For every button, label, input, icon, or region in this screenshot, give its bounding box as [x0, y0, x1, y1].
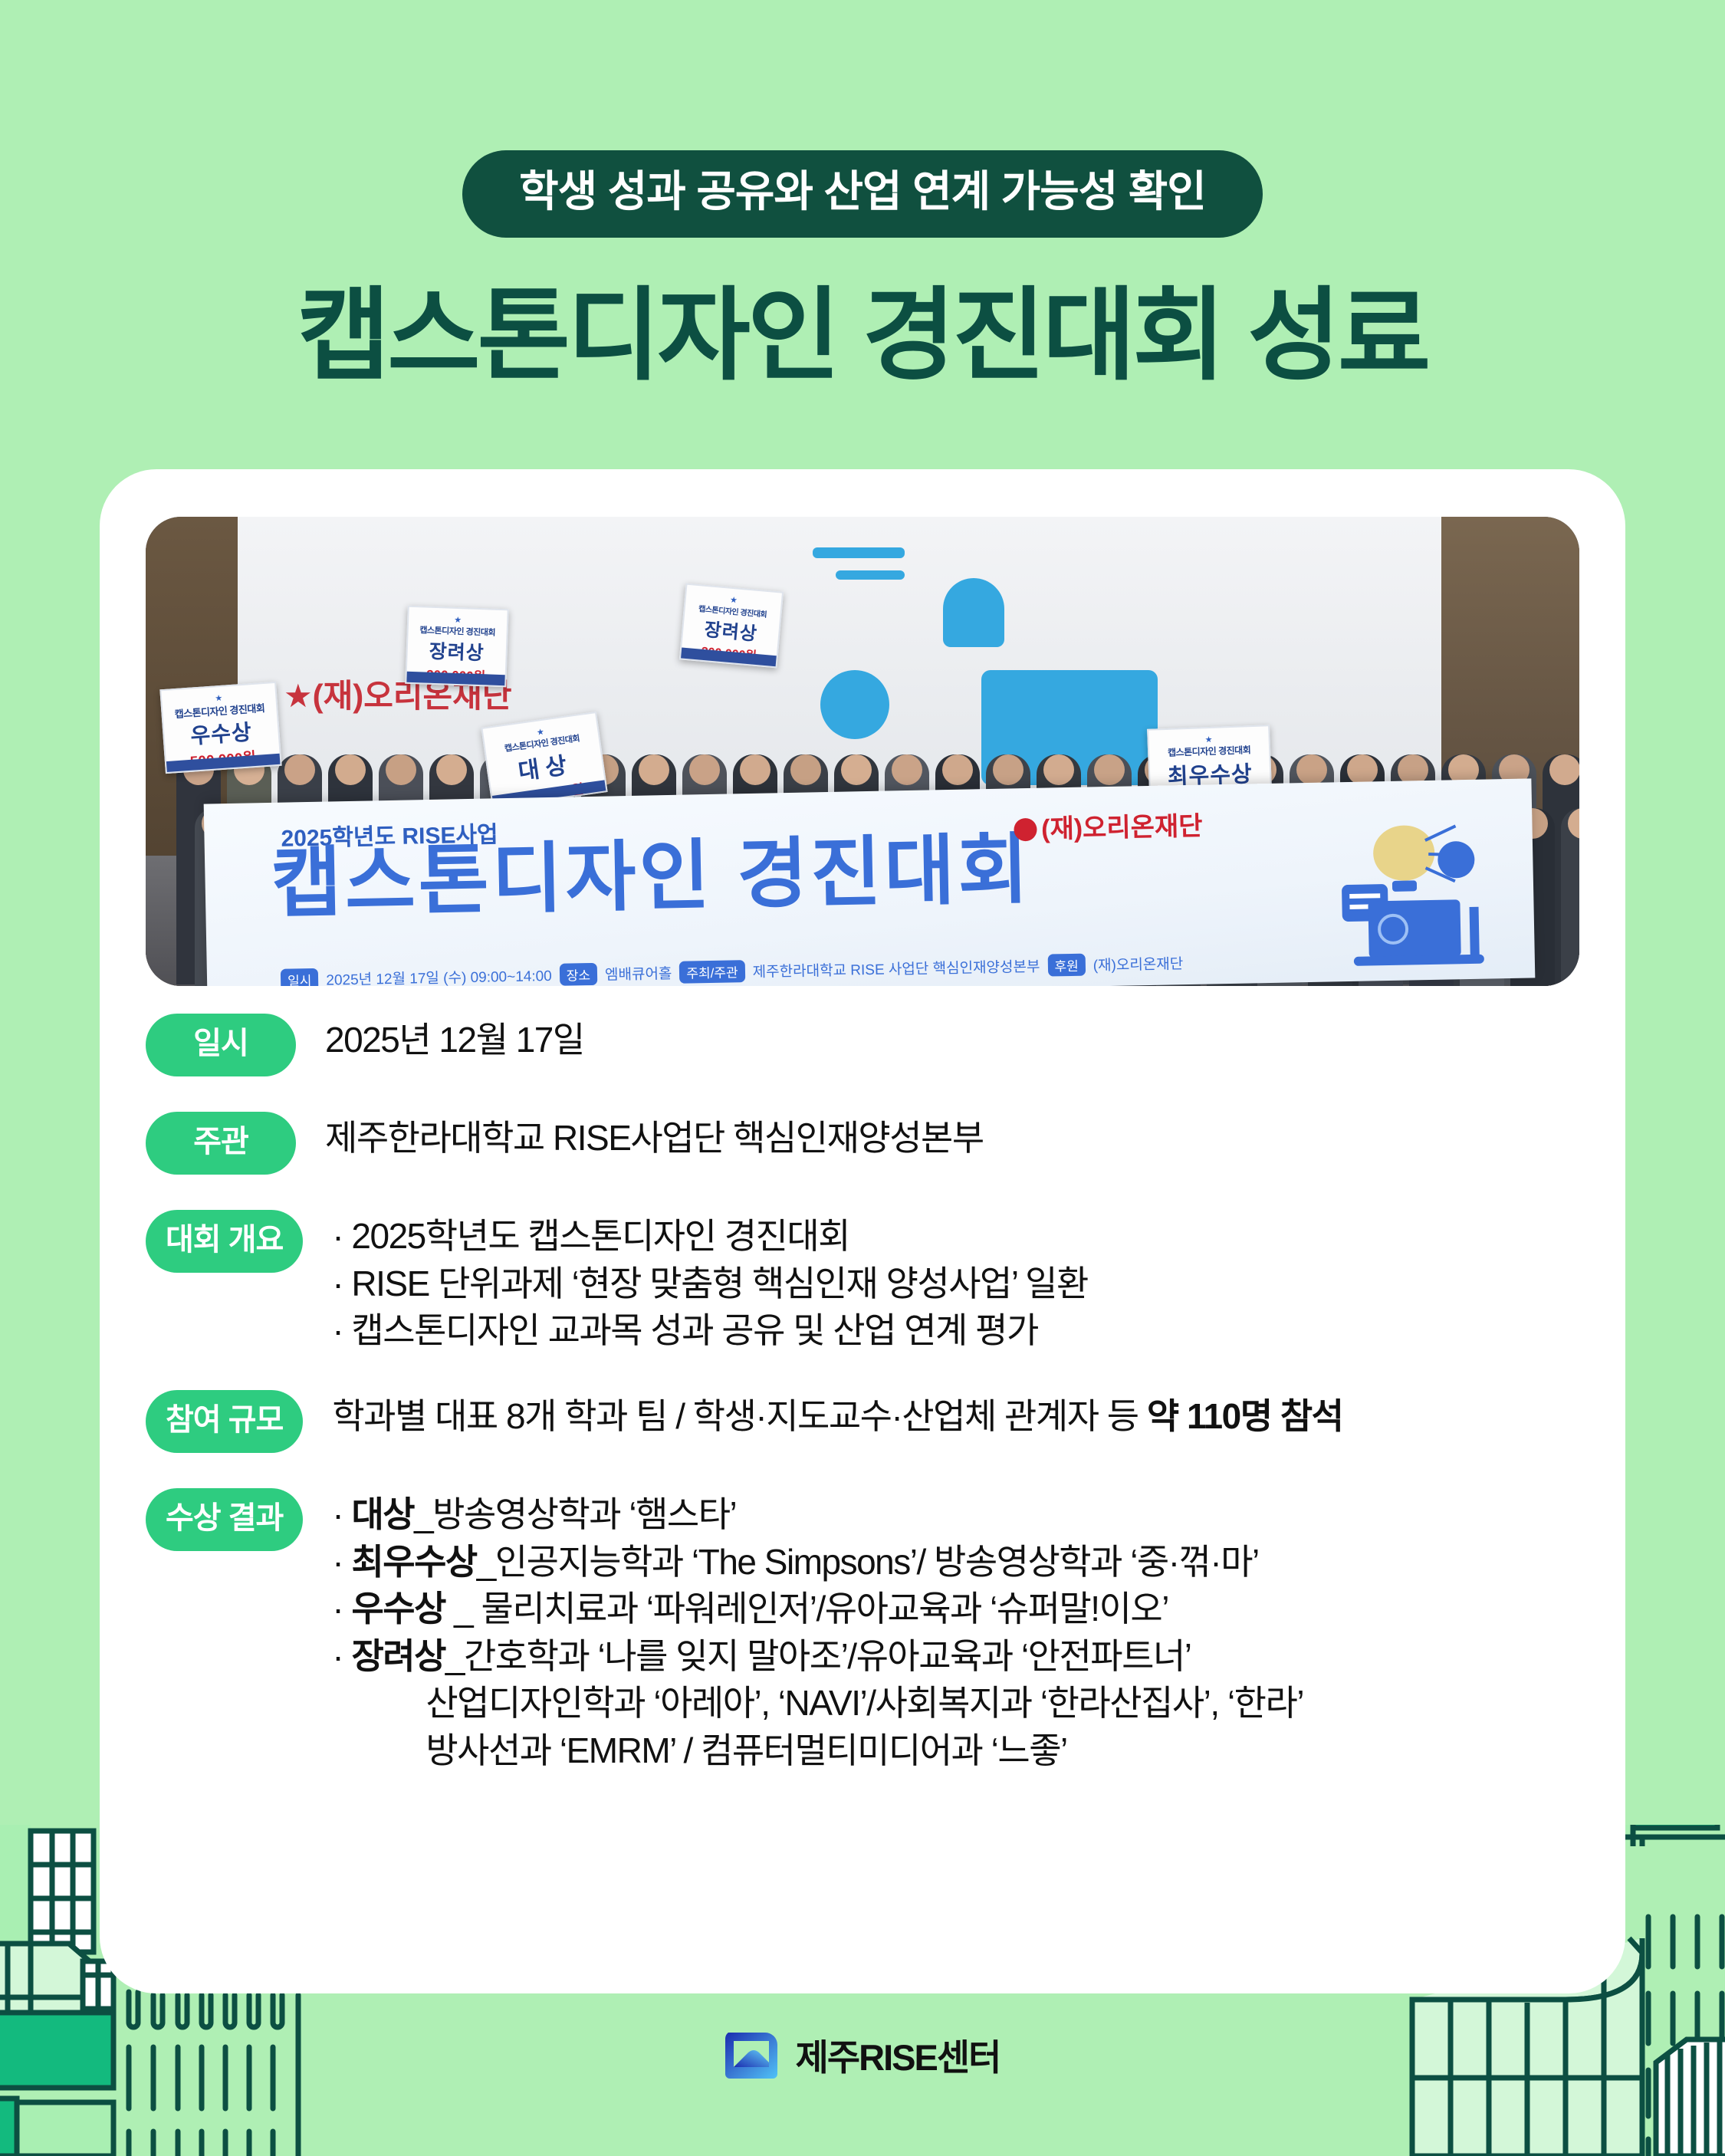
banner-sponsor-text: (재)오리온재단	[1041, 812, 1203, 844]
banner-sponsor-value: (재)오리온재단	[1092, 952, 1183, 974]
banner-place-value: 엠배큐어홀	[605, 962, 672, 984]
footer-logo-text: 제주RISE센터	[796, 2028, 1001, 2081]
info-body-overview: · 2025학년도 캡스톤디자인 경진대회 · RISE 단위과제 ‘현장 맞춤…	[332, 1210, 1579, 1355]
info-line: 2025년 12월 17일	[325, 1017, 1579, 1064]
screen-graphic-3	[943, 578, 1004, 647]
orion-logo-icon	[1014, 818, 1037, 842]
info-badge-participants: 참여 규모	[146, 1390, 303, 1453]
info-row-participants: 참여 규모 학과별 대표 8개 학과 팀 / 학생·지도교수·산업체 관계자 등…	[146, 1390, 1579, 1453]
info-line: · 최우수상_인공지능학과 ‘The Simpsons’/ 방송영상학과 ‘중·…	[332, 1539, 1579, 1586]
info-badge-awards: 수상 결과	[146, 1488, 303, 1551]
info-row-date: 일시 2025년 12월 17일	[146, 1014, 1579, 1076]
info-line: · RISE 단위과제 ‘현장 맞춤형 핵심인재 양성사업’ 일환	[332, 1260, 1579, 1308]
info-line: · 우수상 _ 물리치료과 ‘파워레인저’/유아교육과 ‘슈퍼말!이오’	[332, 1586, 1579, 1633]
info-list: 일시 2025년 12월 17일 주관 제주한라대학교 RISE사업단 핵심인재…	[146, 1014, 1579, 1775]
award-placard-장려상-1: ★ 캡스톤디자인 경진대회 장려상 300,000원	[405, 606, 508, 688]
info-line: · 장려상_간호학과 ‘나를 잊지 말아조’/유아교육과 ‘안전파트너’	[332, 1633, 1579, 1681]
event-group-photo: ★(재)오리온재단	[146, 517, 1579, 986]
banner-date-value: 2025년 12월 17일 (수) 09:00~14:00	[326, 965, 552, 986]
banner-main-title: 캡스톤디자인 경진대회	[271, 831, 1033, 922]
info-body-awards: · 대상_방송영상학과 ‘햄스타’ · 최우수상_인공지능학과 ‘The Sim…	[332, 1488, 1579, 1775]
award-placard-대상: ★ 캡스톤디자인 경진대회 대상 1,000,000원	[481, 712, 607, 808]
award-placard-우수상: ★ 캡스톤디자인 경진대회 우수상 500,000원	[159, 682, 281, 774]
info-row-awards: 수상 결과 · 대상_방송영상학과 ‘햄스타’ · 최우수상_인공지능학과 ‘T…	[146, 1488, 1579, 1775]
info-badge-host: 주관	[146, 1112, 296, 1175]
info-badge-overview: 대회 개요	[146, 1210, 303, 1273]
banner-host-value: 제주한라대학교 RISE 사업단 핵심인재양성본부	[752, 955, 1040, 981]
jeju-rise-logo-icon	[725, 2031, 777, 2079]
info-row-overview: 대회 개요 · 2025학년도 캡스톤디자인 경진대회 · RISE 단위과제 …	[146, 1210, 1579, 1355]
banner-sponsor: (재)오리온재단	[1014, 805, 1203, 846]
info-badge-date: 일시	[146, 1014, 296, 1076]
banner-sponsor-label: 후원	[1047, 954, 1086, 977]
info-line: · 대상_방송영상학과 ‘햄스타’	[332, 1491, 1579, 1539]
info-line: · 캡스톤디자인 교과목 성과 공유 및 산업 연계 평가	[332, 1307, 1579, 1355]
event-banner: 2025학년도 RISE사업 캡스톤디자인 경진대회 (재)오리온재단 일시 2…	[204, 778, 1536, 986]
info-line: 제주한라대학교 RISE사업단 핵심인재양성본부	[325, 1115, 1579, 1162]
info-line: · 2025학년도 캡스톤디자인 경진대회	[332, 1213, 1579, 1260]
info-row-host: 주관 제주한라대학교 RISE사업단 핵심인재양성본부	[146, 1112, 1579, 1175]
info-line: 방사선과 ‘EMRM’ / 컴퓨터멀티미디어과 ‘느좋’	[332, 1727, 1579, 1775]
info-body-host: 제주한라대학교 RISE사업단 핵심인재양성본부	[325, 1112, 1579, 1162]
screen-graphic-2	[836, 570, 905, 580]
page-title: 캡스톤디자인 경진대회 성료	[0, 285, 1725, 386]
info-body-participants: 학과별 대표 8개 학과 팀 / 학생·지도교수·산업체 관계자 등 약 110…	[332, 1390, 1579, 1441]
banner-illustration	[1274, 808, 1507, 974]
banner-place-label: 장소	[559, 963, 597, 986]
award-placard-장려상-2: ★ 캡스톤디자인 경진대회 장려상 300,000원	[679, 583, 784, 669]
footer: 제주RISE센터	[0, 2028, 1725, 2081]
eyebrow-pill: 학생 성과 공유와 산업 연계 가능성 확인	[462, 150, 1263, 238]
banner-details: 일시 2025년 12월 17일 (수) 09:00~14:00 장소 엠배큐어…	[281, 951, 1184, 986]
screen-graphic-5	[820, 670, 889, 739]
poster-header: 학생 성과 공유와 산업 연계 가능성 확인 캡스톤디자인 경진대회 성료	[0, 0, 1725, 386]
info-line: 산업디자인학과 ‘아레아’, ‘NAVI’/사회복지과 ‘한라산집사’, ‘한라…	[332, 1680, 1579, 1727]
banner-date-label: 일시	[281, 968, 319, 986]
info-body-date: 2025년 12월 17일	[325, 1014, 1579, 1064]
banner-host-label: 주최/주관	[679, 960, 745, 984]
content-card: ★(재)오리온재단	[100, 469, 1625, 1993]
screen-graphic-1	[813, 547, 905, 558]
photo-scene: ★(재)오리온재단	[146, 517, 1579, 986]
placard-award: 장려상	[407, 636, 506, 666]
info-line: 학과별 대표 8개 학과 팀 / 학생·지도교수·산업체 관계자 등 약 110…	[332, 1393, 1579, 1441]
